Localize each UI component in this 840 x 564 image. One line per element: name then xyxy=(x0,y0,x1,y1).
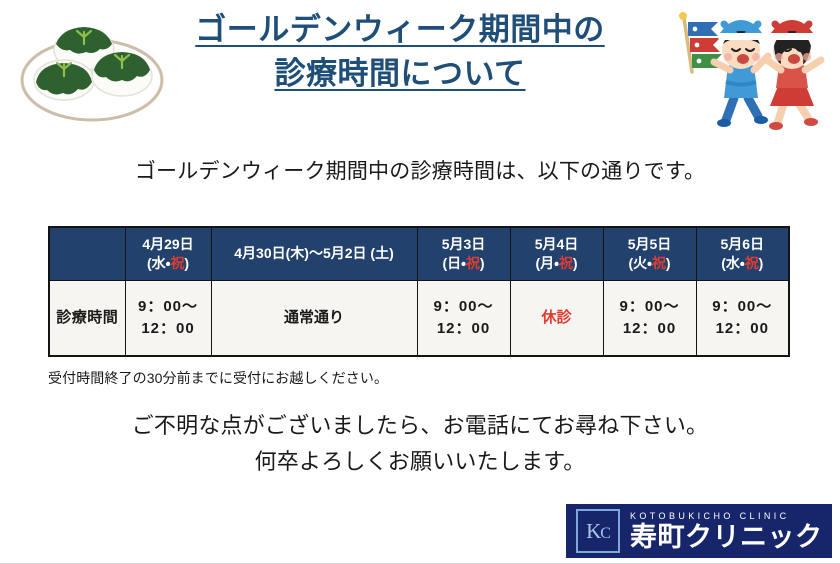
hours-start-1: 9：00〜 xyxy=(126,296,211,318)
clinic-logo-text: KOTOBUKICHO CLINIC 寿町クリニック xyxy=(630,512,823,551)
hours-start-6: 9：00〜 xyxy=(697,296,789,318)
header-date-3: 5月3日 xyxy=(418,235,510,254)
hours-end-6: 12：00 xyxy=(697,318,789,340)
page-title-line-1: ゴールデンウィーク期間中の xyxy=(170,8,630,52)
header: ゴールデンウィーク期間中の 診療時間について xyxy=(0,0,840,140)
header-dayname-3: (日・祝) xyxy=(418,254,510,273)
holiday-mark-3: 祝 xyxy=(466,255,480,271)
header-cell-day-1: 4月29日 (水・祝) xyxy=(125,227,211,281)
hours-start-3: 9：00〜 xyxy=(418,296,510,318)
hours-cell-day-6: 9：00〜 12：00 xyxy=(696,281,789,357)
monogram-k: K xyxy=(586,519,600,543)
header-date-1: 4月29日 xyxy=(126,235,211,254)
clinic-name-english: KOTOBUKICHO CLINIC xyxy=(630,512,823,521)
holiday-mark-5: 祝 xyxy=(652,255,666,271)
clinic-monogram-icon: KC xyxy=(576,509,620,553)
page-title: ゴールデンウィーク期間中の 診療時間について xyxy=(170,8,630,96)
header-cell-day-6: 5月6日 (水・祝) xyxy=(696,227,789,281)
schedule-table: 4月29日 (水・祝) 4月30日(木)〜5月2日 (土) 5月3日 (日・祝)… xyxy=(48,226,790,357)
header-dayname-6: (水・祝) xyxy=(697,254,789,273)
holiday-mark-1: 祝 xyxy=(170,255,184,271)
reception-note: 受付時間終了の30分前までに受付にお越しください。 xyxy=(48,368,388,388)
hours-normal-2: 通常通り xyxy=(284,309,344,326)
schedule-body-row: 診療時間 9：00〜 12：00 通常通り 9：00〜 12：00 休診 xyxy=(49,281,789,357)
hours-start-5: 9：00〜 xyxy=(604,296,696,318)
header-date-5: 5月5日 xyxy=(604,235,696,254)
hours-end-1: 12：00 xyxy=(126,318,211,340)
hours-cell-day-1: 9：00〜 12：00 xyxy=(125,281,211,357)
header-cell-day-2: 4月30日(木)〜5月2日 (土) xyxy=(211,227,417,281)
clinic-name-japanese: 寿町クリニック xyxy=(630,524,823,551)
hours-cell-day-4: 休診 xyxy=(510,281,603,357)
status-closed-4: 休診 xyxy=(541,309,571,326)
hours-cell-day-2: 通常通り xyxy=(211,281,417,357)
closing-message: ご不明な点がございましたら、お電話にてお尋ね下さい。 何卒よろしくお願いいたしま… xyxy=(0,408,840,481)
header-date-2: 4月30日(木)〜5月2日 (土) xyxy=(234,245,393,261)
kashiwa-mochi-illustration xyxy=(16,8,166,126)
intro-text: ゴールデンウィーク期間中の診療時間は、以下の通りです。 xyxy=(0,158,840,185)
clinic-logo: KC KOTOBUKICHO CLINIC 寿町クリニック xyxy=(566,504,832,558)
hours-cell-day-3: 9：00〜 12：00 xyxy=(417,281,510,357)
header-dayname-1: (水・祝) xyxy=(126,254,211,273)
header-dayname-4: (月・祝) xyxy=(511,254,603,273)
hours-cell-day-5: 9：00〜 12：00 xyxy=(603,281,696,357)
header-cell-day-4: 5月4日 (月・祝) xyxy=(510,227,603,281)
holiday-mark-6: 祝 xyxy=(745,255,759,271)
schedule-table-wrapper: 4月29日 (水・祝) 4月30日(木)〜5月2日 (土) 5月3日 (日・祝)… xyxy=(48,226,788,357)
hours-end-3: 12：00 xyxy=(418,318,510,340)
header-cell-day-5: 5月5日 (火・祝) xyxy=(603,227,696,281)
hours-end-5: 12：00 xyxy=(604,318,696,340)
schedule-header-row: 4月29日 (水・祝) 4月30日(木)〜5月2日 (土) 5月3日 (日・祝)… xyxy=(49,227,789,281)
holiday-mark-4: 祝 xyxy=(559,255,573,271)
page-title-line-2: 診療時間について xyxy=(170,52,630,96)
header-dayname-5: (火・祝) xyxy=(604,254,696,273)
monogram-c: C xyxy=(600,525,610,542)
header-corner-cell xyxy=(49,227,125,281)
closing-line-2: 何卒よろしくお願いいたします。 xyxy=(0,444,840,480)
header-cell-day-3: 5月3日 (日・祝) xyxy=(417,227,510,281)
childrens-day-illustration xyxy=(662,2,834,134)
notice-page: ゴールデンウィーク期間中の 診療時間について xyxy=(0,0,840,564)
header-date-6: 5月6日 xyxy=(697,235,789,254)
closing-line-1: ご不明な点がございましたら、お電話にてお尋ね下さい。 xyxy=(0,408,840,444)
header-date-4: 5月4日 xyxy=(511,235,603,254)
row-label-hours: 診療時間 xyxy=(49,281,125,357)
